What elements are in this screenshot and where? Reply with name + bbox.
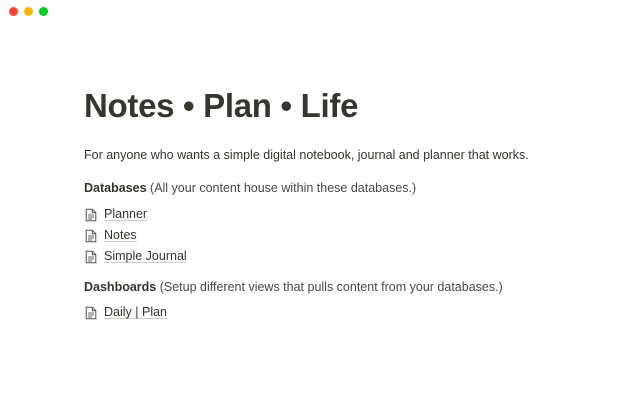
- list-item-label[interactable]: Daily | Plan: [104, 304, 167, 322]
- minimize-window-button[interactable]: [24, 7, 33, 16]
- close-window-button[interactable]: [9, 7, 18, 16]
- section-databases: Databases (All your content house within…: [84, 179, 600, 267]
- dashboard-link-list: Daily | Plan: [84, 303, 600, 324]
- list-item[interactable]: Daily | Plan: [84, 303, 600, 324]
- section-dashboards: Dashboards (Setup different views that p…: [84, 278, 600, 324]
- list-item[interactable]: Notes: [84, 226, 600, 247]
- page-content: Notes • Plan • Life For anyone who wants…: [0, 22, 640, 324]
- list-item-label[interactable]: Notes: [104, 227, 137, 245]
- section-heading-label: Dashboards: [84, 280, 156, 294]
- window-controls: [9, 7, 48, 16]
- section-heading-label: Databases: [84, 181, 147, 195]
- page-subtitle: For anyone who wants a simple digital no…: [84, 146, 600, 164]
- window-titlebar: [0, 0, 640, 22]
- page-icon: [84, 229, 98, 243]
- page-icon: [84, 208, 98, 222]
- maximize-window-button[interactable]: [39, 7, 48, 16]
- database-link-list: Planner Notes: [84, 205, 600, 268]
- list-item-label[interactable]: Planner: [104, 206, 147, 224]
- page-title: Notes • Plan • Life: [84, 88, 600, 124]
- section-heading-note: (Setup different views that pulls conten…: [160, 280, 503, 294]
- section-heading-dashboards: Dashboards (Setup different views that p…: [84, 278, 600, 296]
- list-item[interactable]: Planner: [84, 205, 600, 226]
- page-icon: [84, 250, 98, 264]
- list-item-label[interactable]: Simple Journal: [104, 248, 187, 266]
- page-icon: [84, 306, 98, 320]
- section-heading-databases: Databases (All your content house within…: [84, 179, 600, 197]
- list-item[interactable]: Simple Journal: [84, 247, 600, 268]
- section-heading-note: (All your content house within these dat…: [150, 181, 416, 195]
